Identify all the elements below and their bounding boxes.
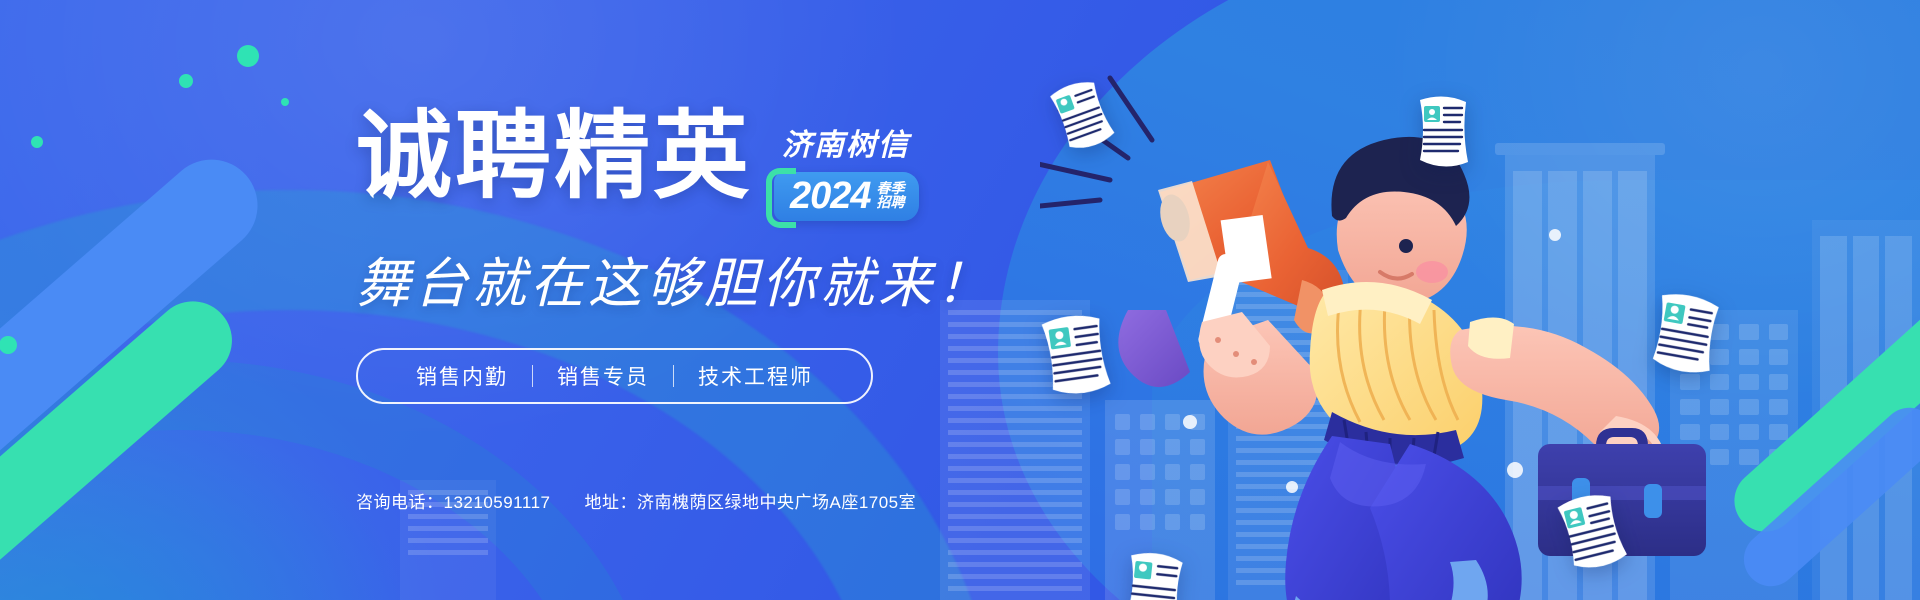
cheek-blush: [1416, 261, 1448, 283]
phone-value: 13210591117: [444, 493, 551, 512]
contact-info: 咨询电话：13210591117 地址：济南槐荫区绿地中央广场A座1705室: [356, 488, 1056, 513]
headline-row: 诚聘精英 济南树信 2024 春季 招聘: [356, 108, 1056, 221]
season-line-1: 春季: [877, 181, 905, 195]
job-tag-1[interactable]: 销售专员: [533, 361, 673, 391]
decorative-dot: [281, 98, 289, 106]
address-label: 地址：: [584, 493, 637, 512]
recruitment-banner: 诚聘精英 济南树信 2024 春季 招聘 舞台就在这够胆你就来！ 销售内勤 销售…: [0, 0, 1920, 600]
address-line: 地址：济南槐荫区绿地中央广场A座1705室: [584, 488, 916, 513]
season-label: 春季 招聘: [877, 181, 905, 212]
phone-line: 咨询电话：13210591117: [356, 488, 550, 513]
year-number: 2024: [790, 177, 871, 215]
subtitle: 舞台就在这够胆你就来！: [356, 239, 1056, 318]
season-line-2: 招聘: [877, 195, 905, 209]
decorative-dot: [31, 136, 43, 148]
shoe-back: [1118, 310, 1190, 387]
job-tags-pill: 销售内勤 销售专员 技术工程师: [356, 348, 873, 404]
job-tag-0[interactable]: 销售内勤: [392, 361, 532, 391]
eye: [1399, 239, 1413, 253]
decorative-dot: [237, 45, 259, 67]
floating-resume-paper: [1116, 545, 1194, 600]
brand-block: 济南树信 2024 春季 招聘: [766, 108, 919, 221]
year-badge: 2024 春季 招聘: [774, 172, 919, 221]
job-tag-2[interactable]: 技术工程师: [674, 361, 837, 391]
decorative-dot: [179, 74, 193, 88]
address-value: 济南槐荫区绿地中央广场A座1705室: [637, 493, 916, 512]
page-title: 诚聘精英: [356, 108, 752, 206]
banner-content: 诚聘精英 济南树信 2024 春季 招聘 舞台就在这够胆你就来！ 销售内勤 销售…: [356, 108, 1056, 513]
floating-resume-paper: [1641, 284, 1730, 380]
phone-label: 咨询电话：: [356, 493, 444, 512]
sleeve-cuff: [1468, 317, 1514, 358]
brand-name: 济南树信: [774, 120, 919, 164]
character-legs: [1285, 436, 1521, 600]
floating-resume-paper: [1410, 92, 1476, 170]
